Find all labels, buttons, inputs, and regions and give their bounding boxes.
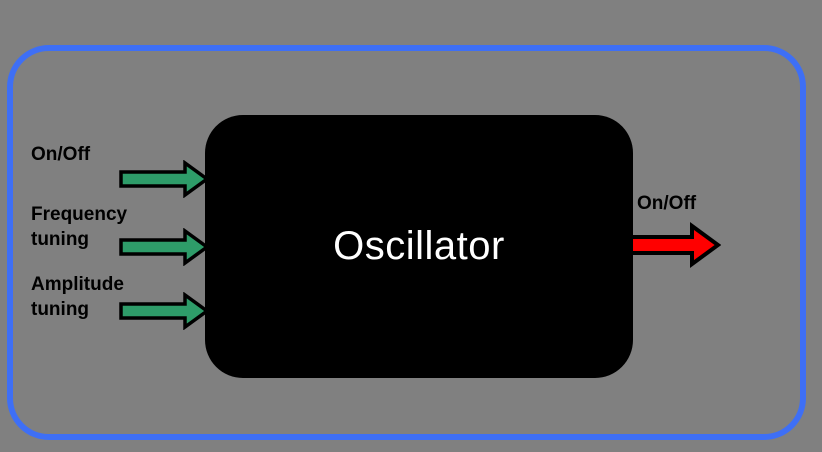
input-arrow-amplitude-tuning <box>118 292 210 330</box>
oscillator-block: Oscillator <box>205 115 633 378</box>
arrow-shape <box>121 231 207 263</box>
arrow-shape <box>631 226 718 264</box>
arrow-shape <box>121 295 207 327</box>
input-arrow-frequency-tuning <box>118 228 210 266</box>
input-arrow-on-off <box>118 160 210 198</box>
output-arrow-on-off <box>629 221 721 269</box>
diagram-canvas: On/Off Frequency tuning Amplitude tuning… <box>0 0 822 452</box>
input-label-amplitude-tuning: Amplitude tuning <box>31 272 124 322</box>
input-label-on-off: On/Off <box>31 142 90 167</box>
input-label-frequency-tuning: Frequency tuning <box>31 202 127 252</box>
arrow-shape <box>121 163 207 195</box>
oscillator-block-label: Oscillator <box>205 115 633 378</box>
output-label-on-off: On/Off <box>637 191 696 216</box>
